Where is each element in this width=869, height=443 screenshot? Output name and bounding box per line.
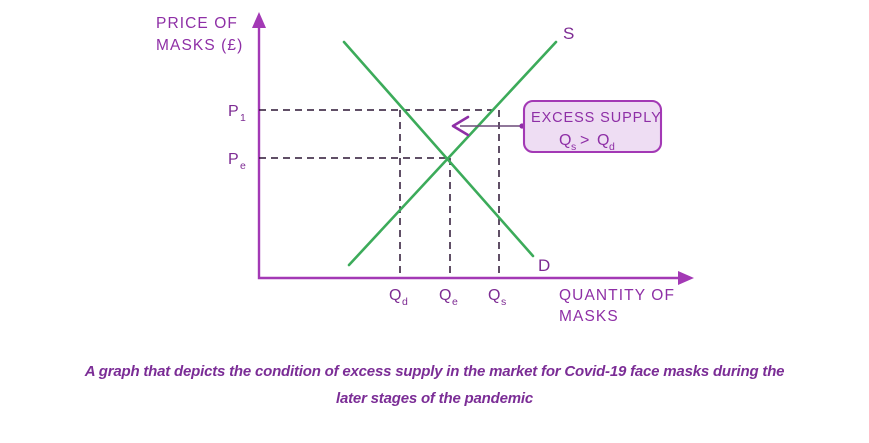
callout-relation-right-base: Q: [597, 132, 609, 149]
callout-relation-left-sub: s: [571, 141, 576, 153]
quantity-tick-qd-base: Q: [389, 287, 401, 304]
quantity-tick-qs: Q s: [488, 287, 506, 308]
price-tick-p1-sub: 1: [240, 112, 246, 124]
y-axis-title: PRICE OF MASKS (£): [156, 15, 243, 54]
excess-supply-pointer: [453, 117, 525, 135]
x-axis-title-line2: MASKS: [559, 308, 619, 325]
supply-curve: [349, 42, 556, 265]
y-axis-title-line2: MASKS (£): [156, 37, 243, 54]
callout-relation-right-sub: d: [609, 141, 615, 153]
quantity-tick-qe-sub: e: [452, 296, 458, 308]
figure-caption-line2: later stages of the pandemic: [0, 385, 869, 412]
figure-caption-line1: A graph that depicts the condition of ex…: [0, 358, 869, 385]
quantity-tick-qd: Q d: [389, 287, 408, 308]
supply-curve-label: S: [563, 24, 574, 43]
callout-relation-operator: >: [580, 132, 589, 149]
y-axis-title-line1: PRICE OF: [156, 15, 238, 32]
callout-relation-left-base: Q: [559, 132, 571, 149]
quantity-tick-qs-base: Q: [488, 287, 500, 304]
price-tick-pe: P e: [228, 151, 246, 172]
price-tick-p1: P 1: [228, 103, 246, 124]
quantity-tick-qs-sub: s: [501, 296, 506, 308]
quantity-tick-qe-base: Q: [439, 287, 451, 304]
guide-lines-group: [259, 110, 499, 278]
price-tick-pe-base: P: [228, 151, 239, 168]
demand-curve: [344, 42, 533, 256]
callout-title: EXCESS SUPPLY: [531, 110, 662, 126]
y-axis-arrowhead: [252, 12, 266, 28]
x-axis-title-line1: QUANTITY OF: [559, 287, 675, 304]
x-axis-title: QUANTITY OF MASKS: [559, 287, 675, 325]
x-axis-arrowhead: [678, 271, 694, 285]
price-tick-pe-sub: e: [240, 160, 246, 172]
quantity-tick-qd-sub: d: [402, 296, 408, 308]
callout-box-background: [524, 101, 661, 152]
excess-supply-callout: EXCESS SUPPLY Q s > Q d: [524, 101, 662, 153]
demand-curve-label: D: [538, 256, 550, 275]
price-tick-p1-base: P: [228, 103, 239, 120]
figure-caption: A graph that depicts the condition of ex…: [0, 358, 869, 412]
quantity-tick-qe: Q e: [439, 287, 458, 308]
